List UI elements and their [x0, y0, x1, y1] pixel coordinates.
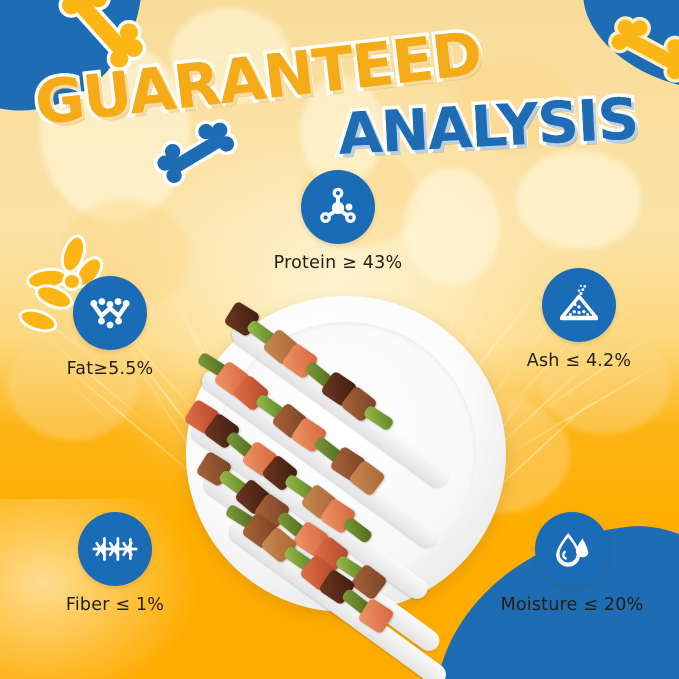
nutrient-label: Fat≥5.5% [25, 359, 195, 379]
nutrient-label: Fiber ≤ 1% [30, 595, 200, 615]
lipid-chain-icon [73, 276, 147, 350]
water-drop-icon [535, 512, 609, 586]
nutrient-label: Moisture ≤ 20% [487, 595, 657, 615]
nutrient-label: Protein ≥ 43% [253, 253, 423, 273]
molecule-icon [301, 170, 375, 244]
ash-pile-icon [542, 268, 616, 342]
page-title: GUARANTEED GUARANTEED ANALYSIS ANALYSIS [0, 0, 679, 190]
food-plate-image [186, 296, 506, 612]
nutrient-label: Ash ≤ 4.2% [494, 351, 664, 371]
nutrient-moisture[interactable]: Moisture ≤ 20% [487, 512, 657, 615]
fiber-strand-icon [78, 512, 152, 586]
nutrient-ash[interactable]: Ash ≤ 4.2% [494, 268, 664, 371]
nutrient-protein[interactable]: Protein ≥ 43% [253, 170, 423, 273]
nutrient-fiber[interactable]: Fiber ≤ 1% [30, 512, 200, 615]
guaranteed-analysis-graphic: GUARANTEED GUARANTEED ANALYSIS ANALYSIS [0, 0, 679, 679]
nutrient-fat[interactable]: Fat≥5.5% [25, 276, 195, 379]
dog-treat-skewers [186, 296, 506, 612]
